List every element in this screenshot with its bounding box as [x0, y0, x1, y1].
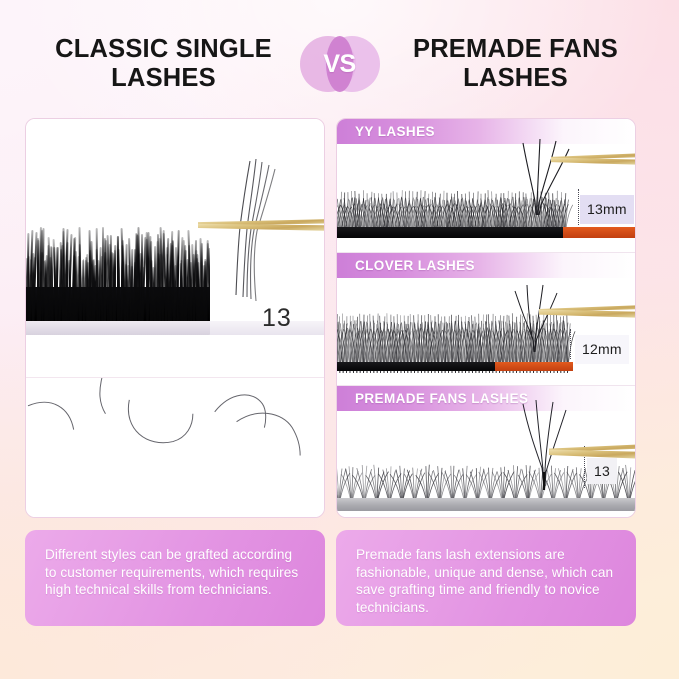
clover-lashes-panel: CLOVER LASHES 12mm — [337, 252, 635, 385]
clover-held-fan-icon — [337, 253, 636, 386]
right-caption-text: Premade fans lash extensions are fashion… — [356, 546, 618, 617]
single-lash-curl-illustrations — [26, 377, 324, 518]
lash-curve-arcs-icon — [26, 378, 324, 518]
clover-measure-tick — [570, 329, 571, 359]
right-caption-box: Premade fans lash extensions are fashion… — [336, 530, 636, 626]
left-caption-text: Different styles can be grafted accordin… — [45, 546, 307, 599]
classic-lash-bristles — [25, 225, 210, 321]
yy-held-fan-icon — [337, 119, 636, 252]
classic-lash-photo: 13 — [26, 119, 324, 377]
yy-measurement-label: 13mm — [580, 195, 634, 224]
yy-lashes-panel: YY LASHES 13mm — [337, 119, 635, 252]
yy-measure-tick — [578, 189, 579, 225]
lash-size-label: 13 — [262, 304, 292, 333]
classic-single-lashes-card: 13 — [25, 118, 325, 518]
clover-measurement-label: 12mm — [575, 335, 629, 364]
lash-tray — [25, 319, 210, 335]
vs-label: VS — [323, 50, 355, 79]
left-caption-box: Different styles can be grafted accordin… — [25, 530, 325, 626]
premade-fans-panel: PREMADE FANS LASHES 13 — [337, 385, 635, 518]
premade-fans-lashes-card: YY LASHES 13mm — [336, 118, 636, 518]
